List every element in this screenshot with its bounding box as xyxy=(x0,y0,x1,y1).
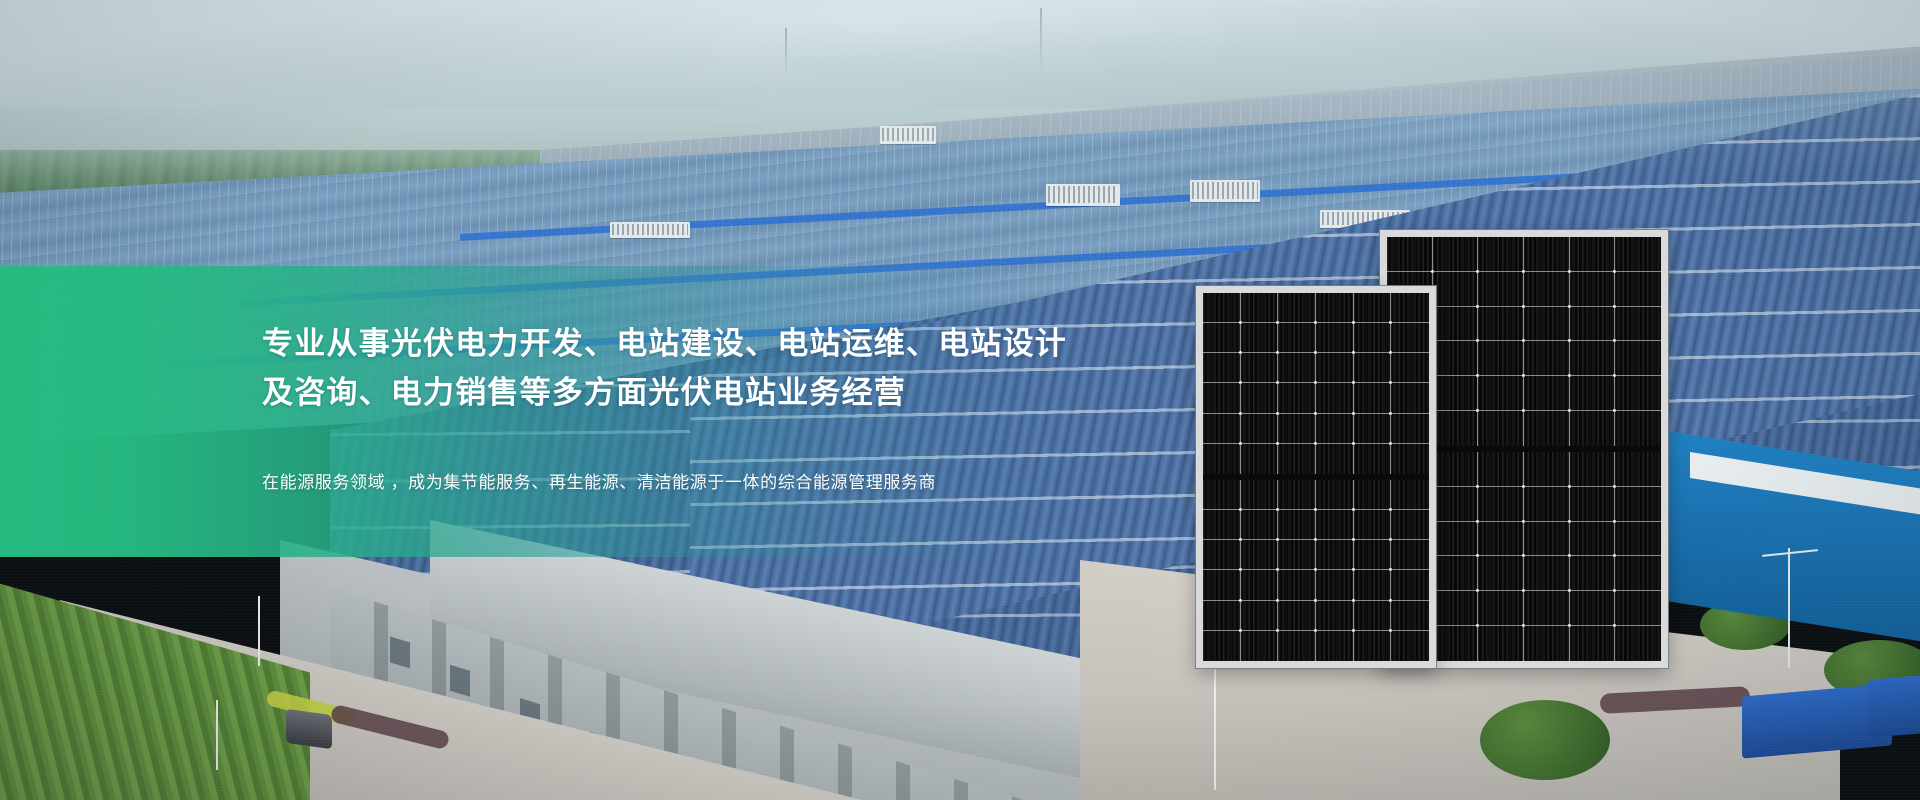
pv-cell xyxy=(1433,307,1479,342)
pv-cell xyxy=(1354,323,1392,353)
pv-cell xyxy=(1391,480,1429,510)
pv-cell xyxy=(1354,510,1392,540)
solar-panel-front-bottom-half xyxy=(1203,480,1429,661)
pv-cell xyxy=(1203,631,1241,661)
pv-cell xyxy=(1354,540,1392,570)
pv-cell xyxy=(1241,480,1279,510)
pv-cell xyxy=(1316,480,1354,510)
pv-cell xyxy=(1570,376,1616,411)
pv-cell xyxy=(1391,601,1429,631)
hero-title-line-2: 及咨询、电力销售等多方面光伏电站业务经营 xyxy=(262,369,1342,418)
pv-cell xyxy=(1278,323,1316,353)
pv-cell xyxy=(1241,383,1279,413)
pv-cell xyxy=(1433,237,1479,272)
pv-cell xyxy=(1241,414,1279,444)
street-lamp-pole xyxy=(258,596,260,666)
pv-cell xyxy=(1203,480,1241,510)
pv-cell xyxy=(1391,323,1429,353)
pv-cell xyxy=(1316,631,1354,661)
pv-cell xyxy=(1433,522,1479,557)
pv-cell xyxy=(1354,383,1392,413)
roof-vent xyxy=(610,222,690,238)
pv-cell xyxy=(1241,293,1279,323)
pv-cell xyxy=(1433,452,1479,487)
pv-cell xyxy=(1478,376,1524,411)
pv-cell xyxy=(1278,353,1316,383)
pv-cell xyxy=(1316,510,1354,540)
pv-cell xyxy=(1203,383,1241,413)
pv-cell xyxy=(1354,444,1392,474)
pv-cell xyxy=(1615,591,1661,626)
pv-cell xyxy=(1241,353,1279,383)
pv-cell xyxy=(1391,540,1429,570)
pv-cell xyxy=(1570,556,1616,591)
pv-cell xyxy=(1433,272,1479,307)
pv-cell xyxy=(1478,591,1524,626)
pv-cell xyxy=(1203,601,1241,631)
pv-cell xyxy=(1354,631,1392,661)
pv-cell xyxy=(1570,272,1616,307)
pv-cell xyxy=(1316,444,1354,474)
pv-cell xyxy=(1203,414,1241,444)
pv-cell xyxy=(1570,307,1616,342)
pv-cell xyxy=(1241,323,1279,353)
pv-cell xyxy=(1316,540,1354,570)
pv-cell xyxy=(1478,411,1524,446)
pv-cell xyxy=(1524,376,1570,411)
roof-vent xyxy=(880,126,936,144)
pv-cell xyxy=(1570,411,1616,446)
hero-subtitle: 在能源服务领域 ，成为集节能服务、再生能源、清洁能源于一体的综合能源管理服务商 xyxy=(262,469,1342,496)
pv-cell xyxy=(1570,591,1616,626)
pv-cell xyxy=(1278,414,1316,444)
pv-cell xyxy=(1615,626,1661,661)
pv-cell xyxy=(1433,376,1479,411)
pv-cell xyxy=(1615,237,1661,272)
grass-area-left xyxy=(0,578,310,800)
pv-cell xyxy=(1524,522,1570,557)
pv-cell xyxy=(1478,556,1524,591)
pv-cell xyxy=(1354,570,1392,600)
pv-cell xyxy=(1615,411,1661,446)
pv-cell xyxy=(1615,452,1661,487)
pv-cell xyxy=(1203,540,1241,570)
pv-cell xyxy=(1241,601,1279,631)
pv-cell xyxy=(1524,272,1570,307)
pv-cell xyxy=(1524,626,1570,661)
pv-cell xyxy=(1433,591,1479,626)
pv-cell xyxy=(1615,341,1661,376)
pv-cell xyxy=(1478,487,1524,522)
pv-cell xyxy=(1570,626,1616,661)
solar-panel-front xyxy=(1196,286,1436,668)
pv-cell xyxy=(1354,480,1392,510)
pv-cell xyxy=(1278,480,1316,510)
roof-vent xyxy=(1046,184,1120,206)
pv-cell xyxy=(1433,626,1479,661)
pv-cell xyxy=(1570,522,1616,557)
ornamental-bush xyxy=(1480,700,1610,780)
pv-cell xyxy=(1524,307,1570,342)
pv-cell xyxy=(1278,601,1316,631)
pv-cell xyxy=(1316,601,1354,631)
pv-cell xyxy=(1354,601,1392,631)
pv-cell xyxy=(1391,444,1429,474)
pv-cell xyxy=(1354,353,1392,383)
pv-cell xyxy=(1524,591,1570,626)
pv-cell xyxy=(1278,383,1316,413)
pv-cell xyxy=(1278,540,1316,570)
pv-cell xyxy=(1478,522,1524,557)
pv-cell xyxy=(1524,341,1570,376)
pv-cell xyxy=(1433,411,1479,446)
pv-cell xyxy=(1615,376,1661,411)
pv-cell xyxy=(1203,444,1241,474)
roof-vent xyxy=(1190,180,1260,202)
pv-cell xyxy=(1278,631,1316,661)
pv-cell xyxy=(1615,556,1661,591)
pv-cell xyxy=(1278,570,1316,600)
pv-cell xyxy=(1391,414,1429,444)
solar-panel-front-laminate xyxy=(1203,293,1429,661)
pv-cell xyxy=(1524,452,1570,487)
pv-cell xyxy=(1203,323,1241,353)
hero-banner-screenshot: 专业从事光伏电力开发、电站建设、电站运维、电站设计 及咨询、电力销售等多方面光伏… xyxy=(0,0,1920,800)
solar-panel-front-top-half xyxy=(1203,293,1429,474)
pv-cell xyxy=(1524,237,1570,272)
pv-cell xyxy=(1615,487,1661,522)
pv-cell xyxy=(1524,556,1570,591)
pv-cell xyxy=(1478,626,1524,661)
pv-cell xyxy=(1433,556,1479,591)
pv-cell xyxy=(1203,353,1241,383)
pv-cell xyxy=(1316,383,1354,413)
pv-cell xyxy=(1278,444,1316,474)
pv-cell xyxy=(1278,293,1316,323)
pv-cell xyxy=(1241,540,1279,570)
pv-cell xyxy=(1433,341,1479,376)
pv-cell xyxy=(1478,341,1524,376)
pv-cell xyxy=(1354,414,1392,444)
pv-cell xyxy=(1354,293,1392,323)
pv-cell xyxy=(1203,510,1241,540)
transmission-pylon xyxy=(1040,8,1042,72)
pv-cell xyxy=(1615,522,1661,557)
pv-cell xyxy=(1524,487,1570,522)
pv-cell xyxy=(1316,353,1354,383)
transmission-pylon xyxy=(785,28,787,76)
pv-cell xyxy=(1478,272,1524,307)
pv-cell xyxy=(1241,510,1279,540)
hero-title-line-1: 专业从事光伏电力开发、电站建设、电站运维、电站设计 xyxy=(262,326,1067,361)
pv-cell xyxy=(1391,510,1429,540)
pv-cell xyxy=(1615,307,1661,342)
street-lamp-pole xyxy=(1214,660,1216,790)
pv-cell xyxy=(1203,570,1241,600)
pv-cell xyxy=(1387,237,1433,272)
pv-cell xyxy=(1570,237,1616,272)
pv-cell xyxy=(1316,323,1354,353)
pv-cell xyxy=(1570,487,1616,522)
blue-tarp-structure xyxy=(1868,672,1920,738)
pv-cell xyxy=(1203,293,1241,323)
street-lamp-pole xyxy=(1788,548,1790,668)
pv-cell xyxy=(1241,570,1279,600)
pv-cell xyxy=(1316,414,1354,444)
pv-cell xyxy=(1316,293,1354,323)
pv-cell xyxy=(1391,293,1429,323)
pv-cell xyxy=(1241,631,1279,661)
parked-van xyxy=(286,709,332,749)
pv-cell xyxy=(1478,452,1524,487)
pv-cell xyxy=(1524,411,1570,446)
pv-cell xyxy=(1391,570,1429,600)
pv-cell xyxy=(1478,307,1524,342)
pv-cell xyxy=(1391,631,1429,661)
pv-cell xyxy=(1433,487,1479,522)
pv-cell xyxy=(1391,383,1429,413)
pv-cell xyxy=(1570,452,1616,487)
hero-title: 专业从事光伏电力开发、电站建设、电站运维、电站设计 及咨询、电力销售等多方面光伏… xyxy=(262,320,1342,418)
pv-cell xyxy=(1478,237,1524,272)
pv-cell xyxy=(1316,570,1354,600)
pv-cell xyxy=(1278,510,1316,540)
pv-cell xyxy=(1615,272,1661,307)
pv-cell xyxy=(1241,444,1279,474)
pv-cell xyxy=(1391,353,1429,383)
street-lamp-pole xyxy=(216,700,218,770)
pv-cell xyxy=(1570,341,1616,376)
